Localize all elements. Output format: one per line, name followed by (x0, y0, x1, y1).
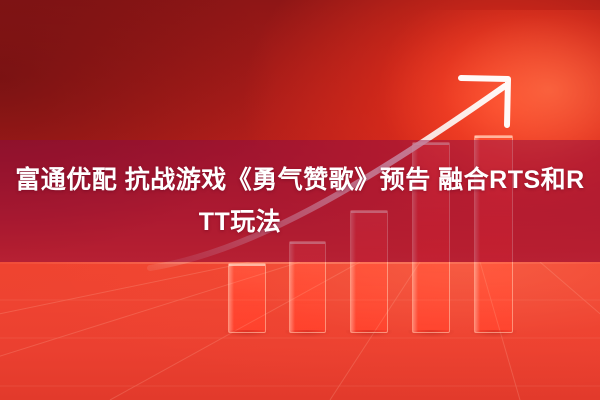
headline-line-1: 富通优配 抗战游戏《勇气赞歌》预告 融合RTS和R (11, 160, 588, 200)
banner-image: 富通优配 抗战游戏《勇气赞歌》预告 融合RTS和R TT玩法 (0, 0, 600, 400)
headline: 富通优配 抗战游戏《勇气赞歌》预告 融合RTS和R TT玩法 (0, 140, 600, 262)
headline-line-2: TT玩法 (199, 202, 402, 242)
